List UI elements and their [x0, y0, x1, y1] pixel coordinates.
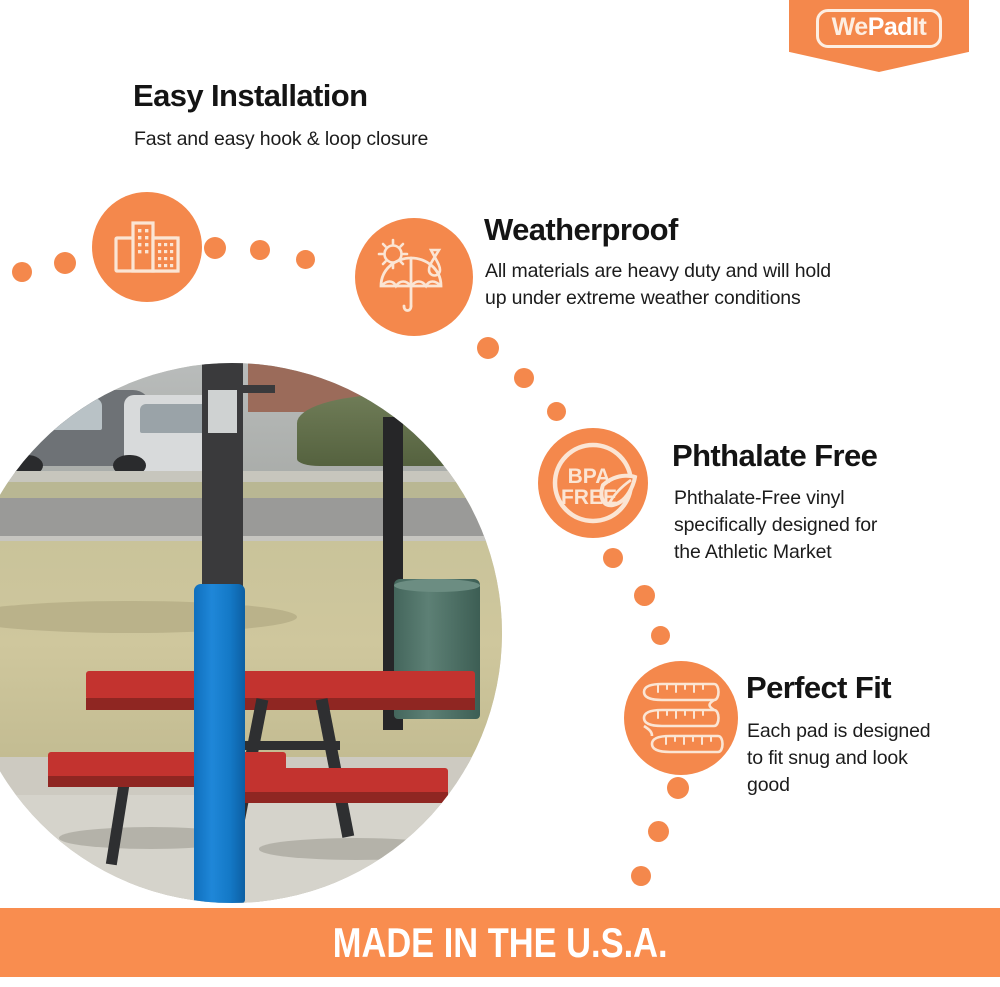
bpa-label: BPA — [568, 465, 611, 488]
feature-body-perfect-fit-line-3: good — [747, 772, 790, 800]
feature-title-perfect-fit: Perfect Fit — [746, 672, 891, 705]
infographic-canvas: WePadIt Easy Installation Fast and easy … — [0, 0, 1000, 987]
photo-table-top-edge — [86, 698, 475, 710]
photo-bench-edge — [232, 792, 448, 803]
building-icon-glyph — [113, 218, 181, 276]
brand-logo[interactable]: WePadIt — [789, 0, 969, 72]
product-photo — [0, 363, 502, 903]
path-dot — [514, 368, 534, 388]
free-label: FREE — [561, 486, 617, 509]
photo-vehicle-dark-window — [16, 398, 102, 430]
feature-body-easy-installation: Fast and easy hook & loop closure — [134, 126, 428, 154]
brand-logo-we: We — [832, 13, 868, 41]
path-dot — [477, 337, 499, 359]
path-dot — [648, 821, 669, 842]
feature-title-phthalate-free: Phthalate Free — [672, 440, 877, 473]
photo-table-brace — [243, 741, 340, 750]
feature-body-phthalate-free-line-1: Phthalate-Free vinyl — [674, 485, 844, 513]
feature-title-easy-installation: Easy Installation — [133, 80, 367, 113]
path-dot — [651, 626, 670, 645]
brand-logo-frame: WePadIt — [816, 9, 943, 48]
feature-body-weatherproof-line-2: up under extreme weather conditions — [485, 285, 801, 313]
path-dot — [204, 237, 226, 259]
building-icon — [92, 192, 202, 302]
measuring-tape-icon — [624, 661, 738, 775]
path-dot — [634, 585, 655, 606]
feature-body-phthalate-free-line-2: specifically designed for — [674, 512, 877, 540]
photo-table-top — [86, 671, 475, 701]
umbrella-sun-rain-icon — [355, 218, 473, 336]
photo-trash-barrel-lip — [394, 579, 480, 592]
path-dot — [667, 777, 689, 799]
path-dot — [631, 866, 651, 886]
feature-body-weatherproof-line-1: All materials are heavy duty and will ho… — [485, 258, 831, 286]
photo-shadow — [259, 838, 453, 860]
feature-body-phthalate-free-line-3: the Athletic Market — [674, 539, 832, 567]
photo-road — [0, 498, 502, 541]
feature-title-weatherproof: Weatherproof — [484, 214, 678, 247]
photo-bench — [232, 768, 448, 795]
path-dot — [250, 240, 270, 260]
feature-body-perfect-fit-line-1: Each pad is designed — [747, 718, 930, 746]
photo-sign — [208, 390, 238, 433]
brand-logo-it: It — [912, 13, 926, 41]
path-dot — [296, 250, 315, 269]
path-dot — [547, 402, 566, 421]
bpa-free-leaf-icon-glyph: BPA FREE — [543, 433, 643, 533]
measuring-tape-icon-glyph — [638, 678, 724, 758]
bpa-free-leaf-icon: BPA FREE — [538, 428, 648, 538]
made-in-usa-banner: MADE IN THE U.S.A. — [0, 908, 1000, 977]
umbrella-sun-rain-icon-glyph — [371, 238, 457, 316]
path-dot — [603, 548, 623, 568]
path-dot — [12, 262, 32, 282]
photo-blue-pole-pad — [194, 584, 245, 903]
made-in-usa-text: MADE IN THE U.S.A. — [333, 919, 668, 967]
path-dot — [54, 252, 76, 274]
feature-body-perfect-fit-line-2: to fit snug and look — [747, 745, 908, 773]
brand-logo-pad: Pad — [868, 13, 912, 41]
